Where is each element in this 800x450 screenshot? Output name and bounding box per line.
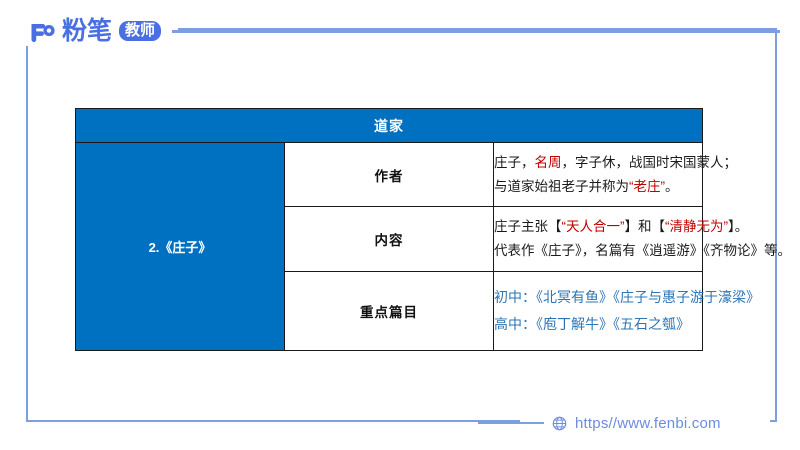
fenbi-logo-icon <box>28 17 56 45</box>
row-content-author: 庄子，名周，字子休，战国时宋国蒙人； 与道家始祖老子并称为“老庄”。 <box>494 143 703 207</box>
brand-logo: 粉笔 教师 <box>28 14 161 48</box>
text-segment: 庄子， <box>494 155 535 170</box>
table-title-row: 道家 <box>76 109 703 143</box>
text-segment: 庄子主张【 <box>494 219 562 234</box>
category-cell: 2.《庄子》 <box>76 143 285 351</box>
brand-badge: 教师 <box>119 21 161 41</box>
text-segment: 】和【 <box>625 219 666 234</box>
table-title: 道家 <box>76 109 703 143</box>
text-segment: 与道家始祖老子并称为 <box>494 179 629 194</box>
row-content-key-texts: 初中：《北冥有鱼》《庄子与惠子游于濠梁》 高中：《庖丁解牛》《五石之瓠》 <box>494 272 703 351</box>
table-row: 2.《庄子》 作者 庄子，名周，字子休，战国时宋国蒙人； 与道家始祖老子并称为“… <box>76 143 703 207</box>
text-segment-highlight: 名周 <box>535 155 562 170</box>
row-label-content: 内容 <box>285 207 494 272</box>
footer-url: https//www.fenbi.com <box>575 415 721 432</box>
globe-icon <box>552 416 567 431</box>
content-table-wrapper: 道家 2.《庄子》 作者 庄子，名周，字子休，战国时宋国蒙人； 与道家始祖老子并… <box>75 108 703 351</box>
text-segment-highlight: “清静无为” <box>665 219 728 234</box>
content-line: 庄子，名周，字子休，战国时宋国蒙人； <box>494 151 702 175</box>
row-label-key-texts: 重点篇目 <box>285 272 494 351</box>
row-label-author: 作者 <box>285 143 494 207</box>
header-rule <box>172 30 780 33</box>
table-body: 道家 2.《庄子》 作者 庄子，名周，字子休，战国时宋国蒙人； 与道家始祖老子并… <box>76 109 703 351</box>
text-segment: 】。 <box>728 219 748 234</box>
content-line: 庄子主张【“天人合一”】和【“清静无为”】。 <box>494 215 702 239</box>
content-table: 道家 2.《庄子》 作者 庄子，名周，字子休，战国时宋国蒙人； 与道家始祖老子并… <box>75 108 703 351</box>
content-line: 代表作《庄子》，名篇有《逍遥游》《齐物论》等。 <box>494 239 702 263</box>
row-content-content: 庄子主张【“天人合一”】和【“清静无为”】。 代表作《庄子》，名篇有《逍遥游》《… <box>494 207 703 272</box>
text-segment-highlight: “天人合一” <box>562 219 625 234</box>
footer-rule <box>478 422 544 424</box>
footer: https//www.fenbi.com <box>478 409 721 437</box>
text-segment: 代表作《庄子》，名篇有《逍遥游》《齐物论》等。 <box>494 243 791 258</box>
text-segment: 。 <box>665 179 679 194</box>
content-line: 高中：《庖丁解牛》《五石之瓠》 <box>494 311 702 338</box>
text-segment: ，字子休，战国时宋国蒙人； <box>562 155 738 170</box>
content-line: 初中：《北冥有鱼》《庄子与惠子游于濠梁》 <box>494 284 702 311</box>
text-segment-highlight: “老庄” <box>629 179 665 194</box>
brand-name: 粉笔 <box>62 19 112 44</box>
content-line: 与道家始祖老子并称为“老庄”。 <box>494 175 702 199</box>
